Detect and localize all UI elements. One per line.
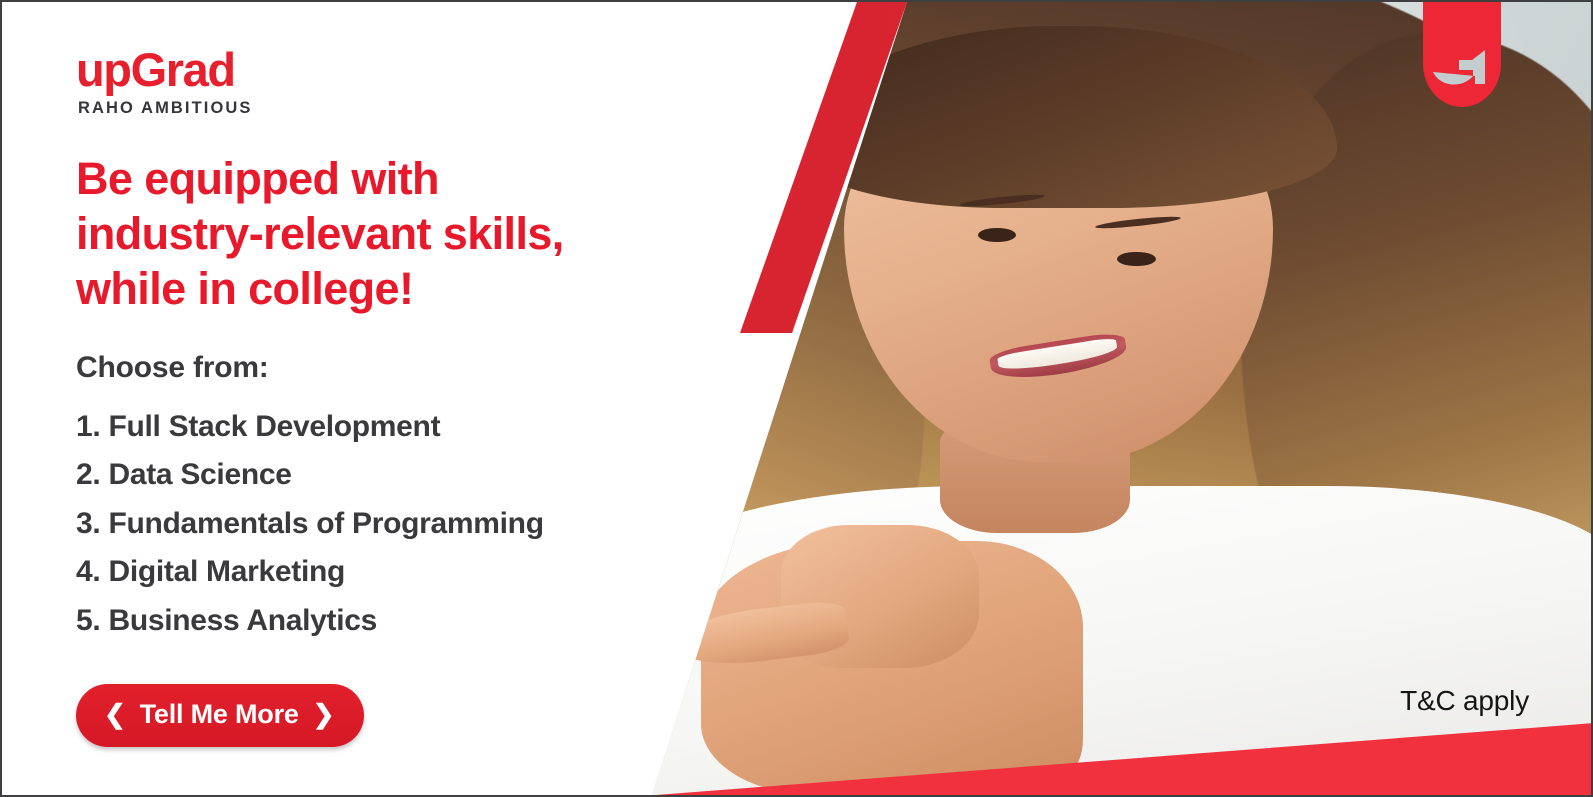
upgrad-brandmark-icon (1423, 2, 1501, 107)
logo-tagline: RAHO AMBITIOUS (78, 99, 662, 118)
tell-me-more-label: Tell Me More (140, 699, 299, 730)
chevron-right-icon: ❯ (313, 701, 335, 727)
chevron-left-icon: ❮ (104, 701, 126, 727)
tell-me-more-button[interactable]: ❮ Tell Me More ❯ (76, 684, 364, 747)
list-item: 4. Digital Marketing (76, 548, 662, 597)
logo-wordmark: upGrad (76, 46, 662, 93)
brand-logo: upGrad RAHO AMBITIOUS (76, 46, 662, 118)
list-item: 5. Business Analytics (76, 597, 662, 646)
terms-and-conditions-note: T&C apply (1400, 685, 1529, 717)
choose-from-label: Choose from: (76, 351, 662, 385)
list-item: 1. Full Stack Development (76, 403, 662, 452)
list-item: 3. Fundamentals of Programming (76, 500, 662, 549)
model-eye-right (1117, 252, 1155, 266)
promo-content: upGrad RAHO AMBITIOUS Be equipped with i… (2, 2, 662, 795)
course-list: 1. Full Stack Development 2. Data Scienc… (76, 403, 662, 646)
headline: Be equipped with industry-relevant skill… (76, 152, 662, 317)
upgrad-promo-banner: upGrad RAHO AMBITIOUS Be equipped with i… (0, 0, 1593, 797)
list-item: 2. Data Science (76, 451, 662, 500)
